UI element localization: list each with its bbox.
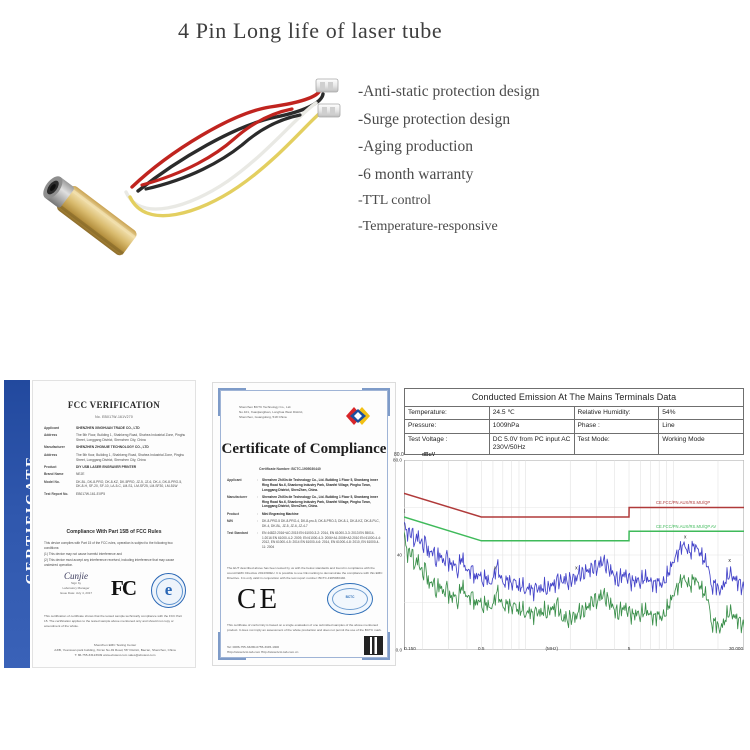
page-title: 4 Pin Long life of laser tube: [178, 18, 442, 44]
fcc-field-value: DK-BL, DK-8-PRO, DK-8-KZ, DK-5PRO, JZ-5,…: [76, 480, 188, 490]
chart-canvas: CE.FCC/PN.AUX/RS.MU/QPCE.FCC/PN.AUX/RS.M…: [404, 460, 744, 650]
table-cell-key: Test Voltage :: [405, 433, 490, 454]
fcc-field-list: Applicant SHENZHEN XINGHUAN TRADE CO., L…: [44, 426, 188, 499]
ce-certificate-panel: Shenzhen BCTC Technology Co., Ltd. No.10…: [212, 378, 396, 668]
fcc-clause: (1) This device may not cause harmful in…: [44, 552, 186, 557]
ce-field-key: Applicant: [227, 478, 257, 492]
fcc-field-key: Model No.: [44, 480, 76, 490]
x-axis-tick: (MHz): [545, 646, 558, 651]
y-axis-tick: 0.0: [396, 648, 402, 653]
certificates-row: CERTIFICATE FCC VERIFICATION No. EB017W-…: [0, 378, 750, 670]
table-row: Pressure: 1009hPa Phase : Line: [405, 420, 744, 433]
feature-item: -Temperature-responsive: [358, 220, 608, 234]
ce-field-key: Product: [227, 512, 257, 517]
certificate-sidebar: CERTIFICATE: [4, 380, 30, 668]
ce-issuer-line: Shenzhen, Guangdong, 518 China: [239, 415, 329, 420]
fcc-field-value: DIY USB LASER ENGRAVER PRINTER: [76, 465, 188, 470]
fcc-field-value: NEJE: [76, 472, 188, 477]
table-cell-value: 24.5 ℃: [489, 407, 574, 420]
ce-contact-line: Http://www.bctc-lab.com Http://www.bctc-…: [227, 650, 347, 655]
qr-code-icon: [364, 636, 383, 655]
svg-text:CE.FCC/PN.AUX/RS.MU/QP.AV: CE.FCC/PN.AUX/RS.MU/QP.AV: [656, 524, 716, 529]
fcc-field: Manufacturer SHENZHEN ZHONUIE TECHNOLOGY…: [44, 445, 188, 450]
fcc-field-value: The 5th Floor, Building 1, Shahkeng Road…: [76, 433, 188, 443]
fcc-field: Applicant SHENZHEN XINGHUAN TRADE CO., L…: [44, 426, 188, 431]
fcc-report-number: No. EB017W-161V270: [33, 415, 195, 419]
fcc-field-key: Test Report No.: [44, 492, 76, 497]
x-axis-tick: 30.000: [729, 646, 743, 651]
signature: Cunjie Sign by Laboratory Manager Issue …: [51, 571, 101, 595]
ce-field-value: Shenzhen ZhiXin.tie Technology Co., Ltd.…: [262, 495, 383, 509]
svg-text:CE.FCC/PN.AUX/RS.MU/QP: CE.FCC/PN.AUX/RS.MU/QP: [656, 500, 710, 505]
stamp-inner-ring: [332, 588, 368, 610]
ce-mark-icon: CE: [237, 583, 280, 616]
chart-y-axis: 80.0400.0: [392, 460, 402, 650]
feature-list: -Anti-static protection design -Surge pr…: [358, 84, 608, 246]
table-cell-value: Working Mode: [659, 433, 744, 454]
fcc-clause-list: This device complies with Part 15 of the…: [44, 541, 186, 569]
ce-footnote: This certificate of conformity is based …: [227, 623, 383, 633]
feature-item: -Aging production: [358, 139, 608, 155]
ce-statement: The EUT described above has been tested …: [227, 566, 383, 581]
table-row: Temperature: 24.5 ℃ Relative Humidity: 5…: [405, 407, 744, 420]
jst-connector-2: [318, 104, 340, 117]
ce-field-value: EN 44822:2016+AC:2015 EN 61000-3-2: 2014…: [262, 531, 383, 550]
y-axis-tick: 80.0: [393, 458, 402, 463]
ce-certificate-number: Certificate Number: BCTC-1905030440: [259, 467, 321, 471]
feature-item: -Anti-static protection design: [358, 84, 608, 100]
fcc-marks-row: Cunjie Sign by Laboratory Manager Issue …: [45, 571, 187, 611]
table-cell-key: Test Mode:: [574, 433, 659, 454]
feature-item: -Surge protection design: [358, 112, 608, 128]
signature-script: Cunjie: [51, 571, 101, 581]
table-cell-value: DC 5.0V from PC input AC 230V/50Hz: [489, 433, 574, 454]
y-axis-tick: 40: [397, 553, 402, 558]
emc-table-title: Conducted Emission At The Mains Terminal…: [405, 389, 744, 407]
fcc-compliance-heading: Compliance With Part 15B of FCC Rules: [33, 529, 195, 535]
ce-field: Test Standard : EN 44822:2016+AC:2015 EN…: [227, 531, 383, 550]
table-cell-value: 1009hPa: [489, 420, 574, 433]
product-photo: [20, 55, 350, 270]
laser-module-body: [38, 171, 138, 257]
ce-field: Manufacturer : Shenzhen ZhiXin.tie Techn…: [227, 495, 383, 509]
stamp-label: BCTC: [328, 595, 372, 599]
ce-field-value: DK-8-PRO-5 DK-8-PRO-4, DK-8-pro-5, DK-8-…: [262, 519, 383, 529]
ce-field-key: Test Standard: [227, 531, 257, 550]
table-cell-key: Pressure:: [405, 420, 490, 433]
fcc-field: Model No. DK-BL, DK-8-PRO, DK-8-KZ, DK-5…: [44, 480, 188, 490]
fcc-field-value: SHENZHEN ZHONUIE TECHNOLOGY CO., LTD: [76, 445, 188, 450]
ce-field-list: Applicant : Shenzhen ZhiXin.tie Technolo…: [227, 478, 383, 552]
x-axis-tick: 0.5: [478, 646, 484, 651]
emc-report-panel: Conducted Emission At The Mains Terminal…: [398, 378, 750, 670]
jst-connector-1: [316, 79, 338, 92]
fcc-field-value: The 5th floor, Building 1, Shahkeng Road…: [76, 453, 188, 463]
fcc-certificate-sheet: FCC VERIFICATION No. EB017W-161V270 Appl…: [32, 380, 196, 668]
fcc-heading: FCC VERIFICATION: [33, 400, 195, 410]
feature-item: -6 month warranty: [358, 167, 608, 183]
table-cell-key: Phase :: [574, 420, 659, 433]
fcc-logo-icon: FC: [111, 576, 135, 601]
table-cell-key: Temperature:: [405, 407, 490, 420]
ce-field: Product : Mini Engraving Machine: [227, 512, 383, 517]
emc-emission-chart: CE.FCC/PN.AUX/RS.MU/QPCE.FCC/PN.AUX/RS.M…: [404, 460, 744, 650]
fcc-field: Address The 5th Floor, Building 1, Shahk…: [44, 433, 188, 443]
e-mark-icon: e: [151, 573, 186, 608]
bctc-stamp-icon: BCTC: [327, 583, 373, 615]
fcc-field-key: Address: [44, 453, 76, 463]
ce-field-value: Shenzhen ZhiXin.tie Technology Co., Ltd.…: [262, 478, 383, 492]
x-axis-tick: 0.150: [404, 646, 416, 651]
bctc-diamond-logo-icon: [337, 401, 379, 431]
table-title-row: Conducted Emission At The Mains Terminal…: [405, 389, 744, 407]
fcc-field: Brand Name NEJE: [44, 472, 188, 477]
fcc-field-key: Brand Name: [44, 472, 76, 477]
chart-x-axis: 0.1500.5(MHz)530.000: [404, 646, 744, 656]
ce-field-key: M/N: [227, 519, 257, 529]
x-axis-tick: 5: [628, 646, 631, 651]
ce-certificate-sheet: Shenzhen BCTC Technology Co., Ltd. No.10…: [212, 382, 396, 666]
ce-heading: Certificate of Compliance: [213, 441, 395, 458]
fcc-field-key: Address: [44, 433, 76, 443]
fcc-field-value: SHENZHEN XINGHUAN TRADE CO., LTD: [76, 426, 188, 431]
fcc-address-block: Shenzhen EMC Testing Center A3/B, Yuanxu…: [44, 643, 186, 658]
chart-y-unit-label: dBuV: [422, 452, 435, 458]
emc-conditions-table: Conducted Emission At The Mains Terminal…: [404, 388, 744, 455]
table-cell-key: Relative Humidity:: [574, 407, 659, 420]
fcc-clause: (2) This device must accept any interfer…: [44, 558, 186, 568]
fcc-certificate-panel: CERTIFICATE FCC VERIFICATION No. EB017W-…: [0, 378, 196, 668]
fcc-field-key: Product: [44, 465, 76, 470]
fcc-address-line: T: 86-755-33123949 www.ebotest.com sales…: [44, 653, 186, 658]
fcc-field-key: Applicant: [44, 426, 76, 431]
table-row: Test Voltage : DC 5.0V from PC input AC …: [405, 433, 744, 454]
ce-contact-block: Tel: 0086-755-33280-0755-3345-1900 Http:…: [227, 645, 347, 655]
table-cell-value: 54%: [659, 407, 744, 420]
ce-field: M/N : DK-8-PRO-5 DK-8-PRO-4, DK-8-pro-5,…: [227, 519, 383, 529]
fcc-field-key: Manufacturer: [44, 445, 76, 450]
fcc-field: Address The 5th floor, Building 1, Shahk…: [44, 453, 188, 463]
fcc-field: Test Report No. EB017W-161-EXP5: [44, 492, 188, 497]
signature-line: Issue Date: July 4, 2017: [51, 591, 101, 596]
e-mark-letter: e: [152, 580, 185, 600]
fcc-clause: This device complies with Part 15 of the…: [44, 541, 186, 551]
table-cell-value: Line: [659, 420, 744, 433]
ce-field-value: Mini Engraving Machine: [262, 512, 383, 517]
product-hero-section: 4 Pin Long life of laser tube: [0, 0, 750, 300]
fcc-field: Product DIY USB LASER ENGRAVER PRINTER: [44, 465, 188, 470]
fcc-field-value: EB017W-161-EXP5: [76, 492, 188, 497]
ce-field: Applicant : Shenzhen ZhiXin.tie Technolo…: [227, 478, 383, 492]
fcc-footnote: This certification of certificate shows …: [44, 614, 186, 629]
laser-module-illustration: [20, 55, 350, 270]
ce-field-key: Manufacturer: [227, 495, 257, 509]
feature-item: -TTL control: [358, 194, 608, 208]
ce-issuer-block: Shenzhen BCTC Technology Co., Ltd. No.10…: [239, 405, 329, 420]
